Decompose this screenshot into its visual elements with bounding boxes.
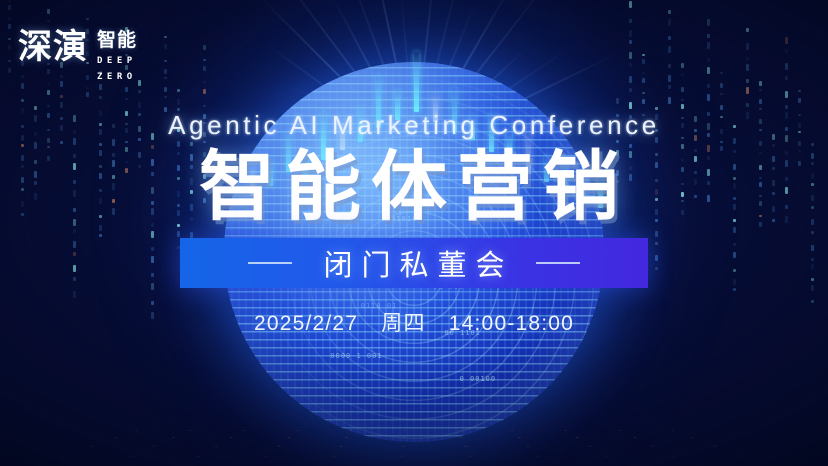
banner-label: 闭门私董会	[314, 242, 513, 284]
event-time: 14:00-18:00	[449, 312, 574, 335]
conference-eyebrow-title: Agentic AI Marketing Conference	[0, 110, 828, 141]
conference-poster: 01 0000000 1 0010 001000101010010110 010…	[0, 0, 828, 466]
event-date: 2025/2/27	[254, 312, 358, 335]
banner-left-dash	[248, 262, 292, 264]
page-title: 智能体营销	[0, 145, 828, 229]
hero-content: Agentic AI Marketing Conference 智能体营销 闭门…	[0, 0, 828, 337]
subtitle-banner: 闭门私董会	[180, 238, 648, 288]
event-weekday: 周四	[381, 312, 425, 335]
event-datetime: 2025/2/27 周四 14:00-18:00	[0, 307, 828, 337]
banner-right-dash	[536, 262, 580, 264]
